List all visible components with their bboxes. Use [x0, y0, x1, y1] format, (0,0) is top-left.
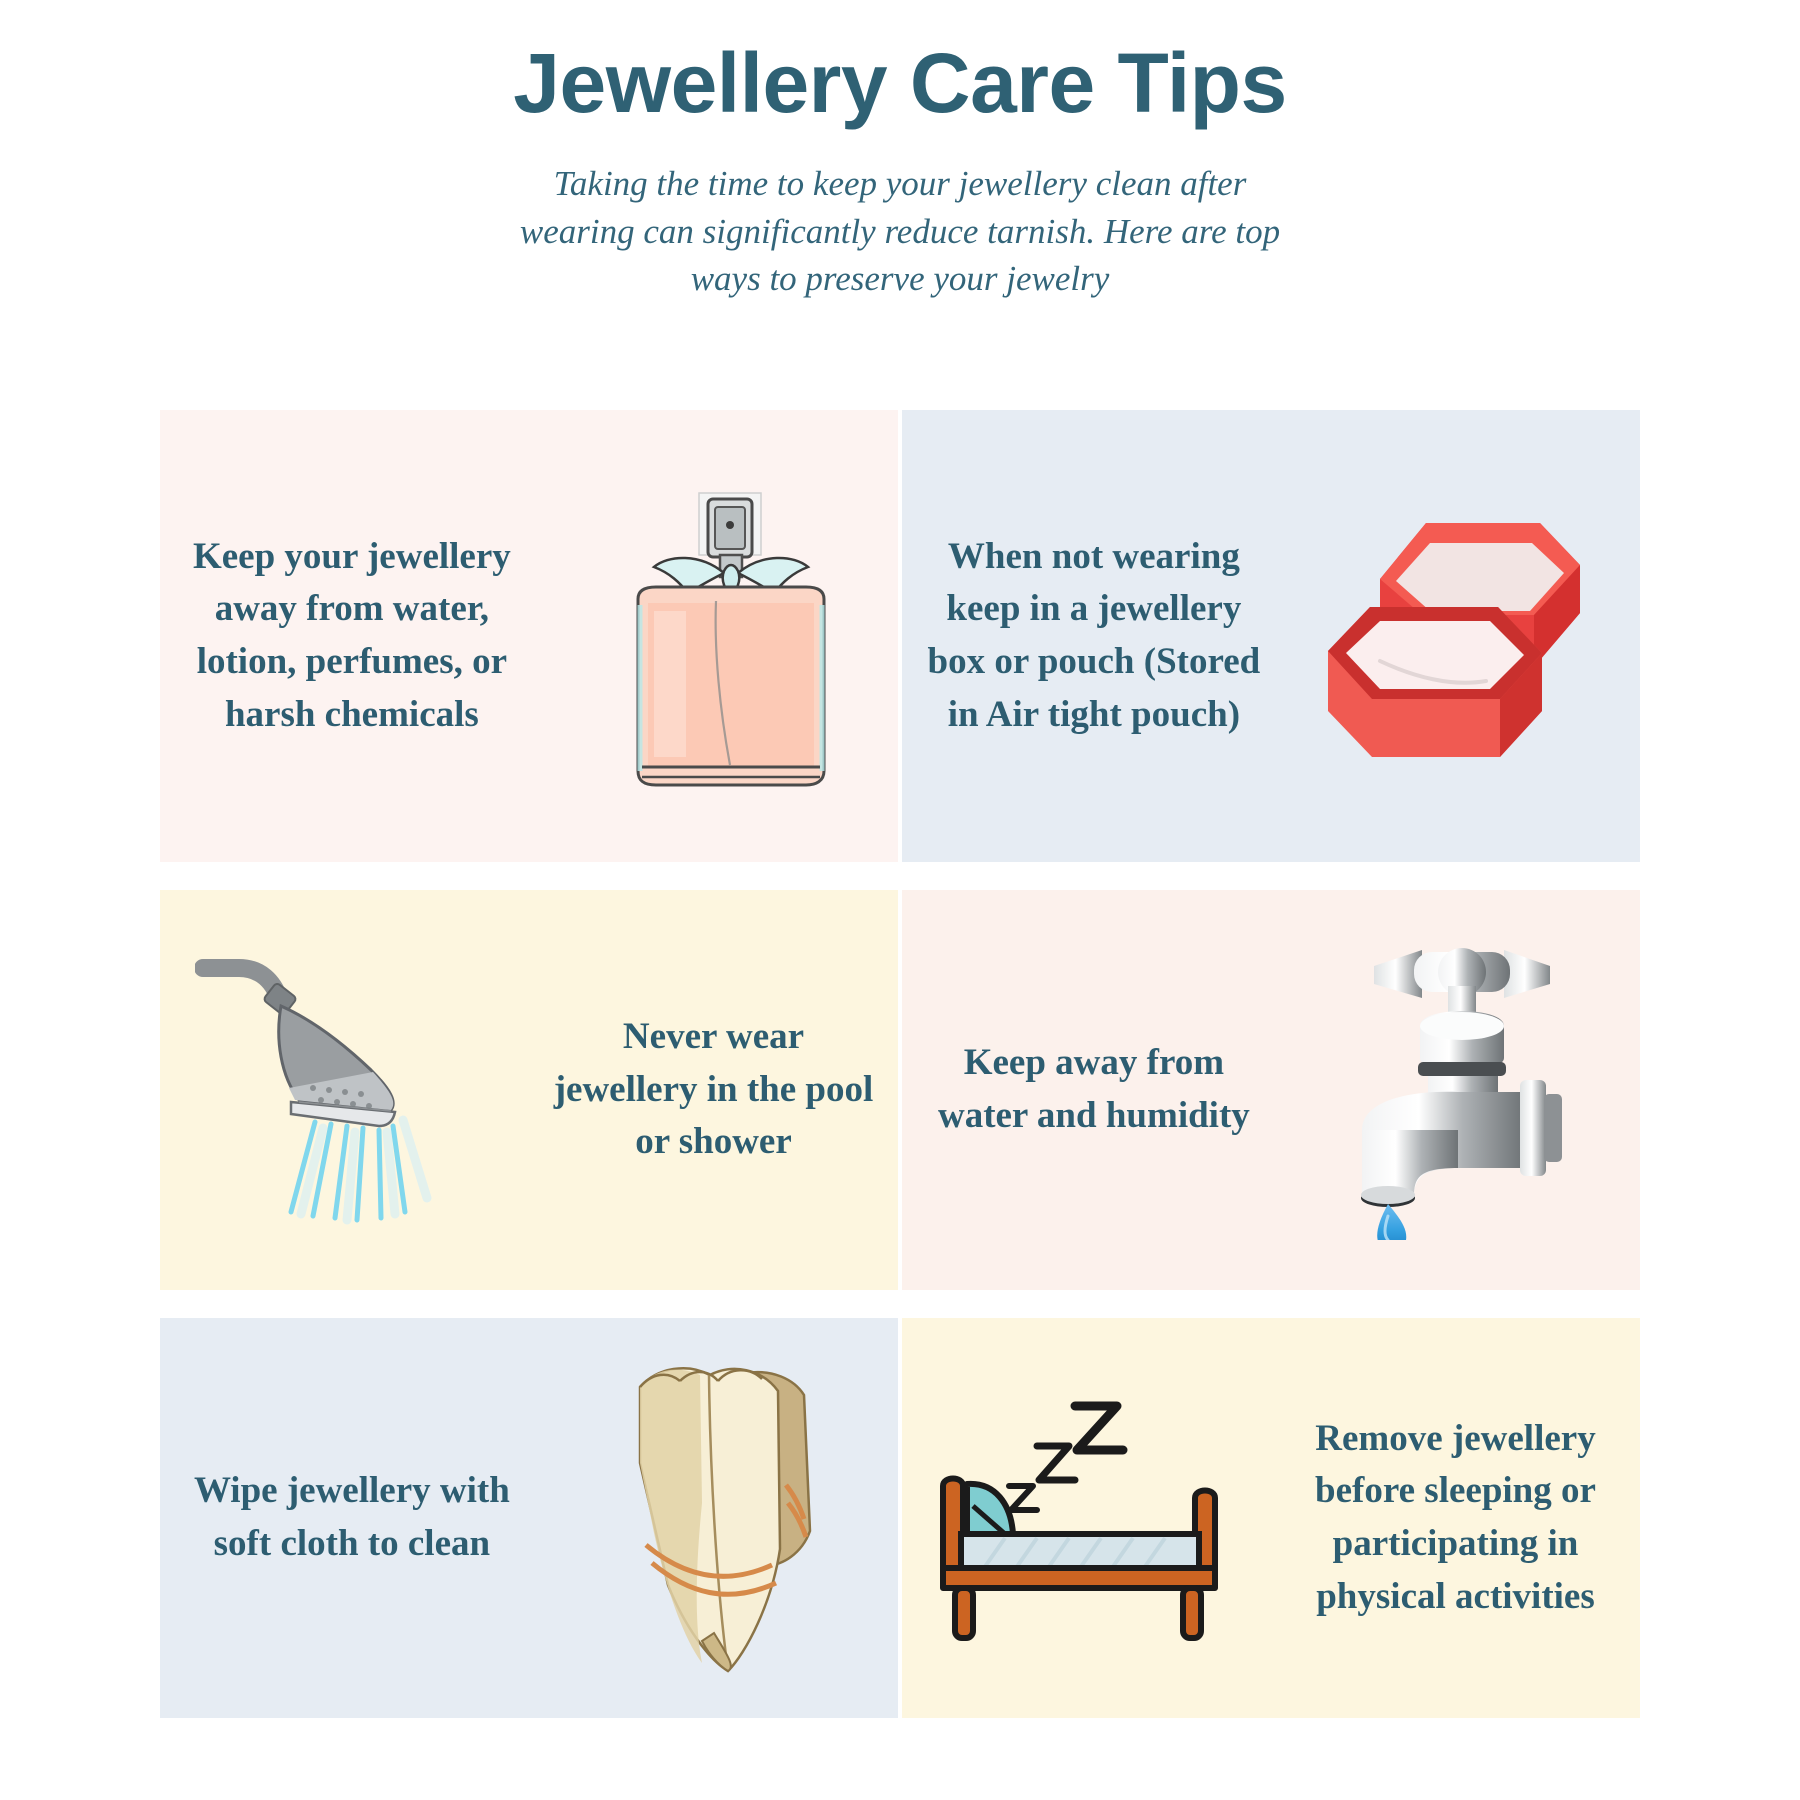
tip-card-label: Keep away from water and humidity	[902, 1037, 1286, 1142]
tip-card-illustration	[1286, 890, 1640, 1290]
bed-sleeping-icon	[927, 1388, 1247, 1648]
faucet-icon	[1318, 940, 1608, 1240]
tip-card-illustration	[544, 410, 898, 862]
tip-card-label: Wipe jewellery with soft cloth to clean	[160, 1465, 544, 1570]
tip-card-store-in-box[interactable]: When not wearing keep in a jewellery box…	[902, 410, 1640, 862]
perfume-bottle-icon	[596, 471, 846, 801]
soft-cloth-icon	[596, 1353, 846, 1683]
tip-card-no-pool-shower[interactable]: Never wear jewellery in the pool or show…	[160, 890, 898, 1290]
tip-card-wipe-with-cloth[interactable]: Wipe jewellery with soft cloth to clean	[160, 1318, 898, 1718]
tip-card-avoid-humidity[interactable]: Keep away from water and humidity	[902, 890, 1640, 1290]
tip-card-label: Never wear jewellery in the pool or show…	[529, 1011, 898, 1169]
tip-card-illustration	[902, 1318, 1271, 1718]
tip-card-illustration	[160, 890, 529, 1290]
tips-grid: Keep your jewellery away from water, lot…	[160, 410, 1640, 1718]
tip-card-illustration	[544, 1318, 898, 1718]
tip-card-label: Keep your jewellery away from water, lot…	[160, 531, 544, 741]
tip-card-label: Remove jewellery before sleeping or part…	[1271, 1413, 1640, 1623]
ring-box-icon	[1318, 501, 1608, 771]
header: Jewellery Care Tips Taking the time to k…	[0, 0, 1800, 303]
shower-head-icon	[195, 950, 495, 1230]
page-title: Jewellery Care Tips	[0, 36, 1800, 130]
tip-card-avoid-chemicals[interactable]: Keep your jewellery away from water, lot…	[160, 410, 898, 862]
infographic-page: Jewellery Care Tips Taking the time to k…	[0, 0, 1800, 1800]
page-subtitle: Taking the time to keep your jewellery c…	[505, 160, 1295, 303]
tip-card-label: When not wearing keep in a jewellery box…	[902, 531, 1286, 741]
tip-card-illustration	[1286, 410, 1640, 862]
tip-card-remove-before-sleep[interactable]: Remove jewellery before sleeping or part…	[902, 1318, 1640, 1718]
